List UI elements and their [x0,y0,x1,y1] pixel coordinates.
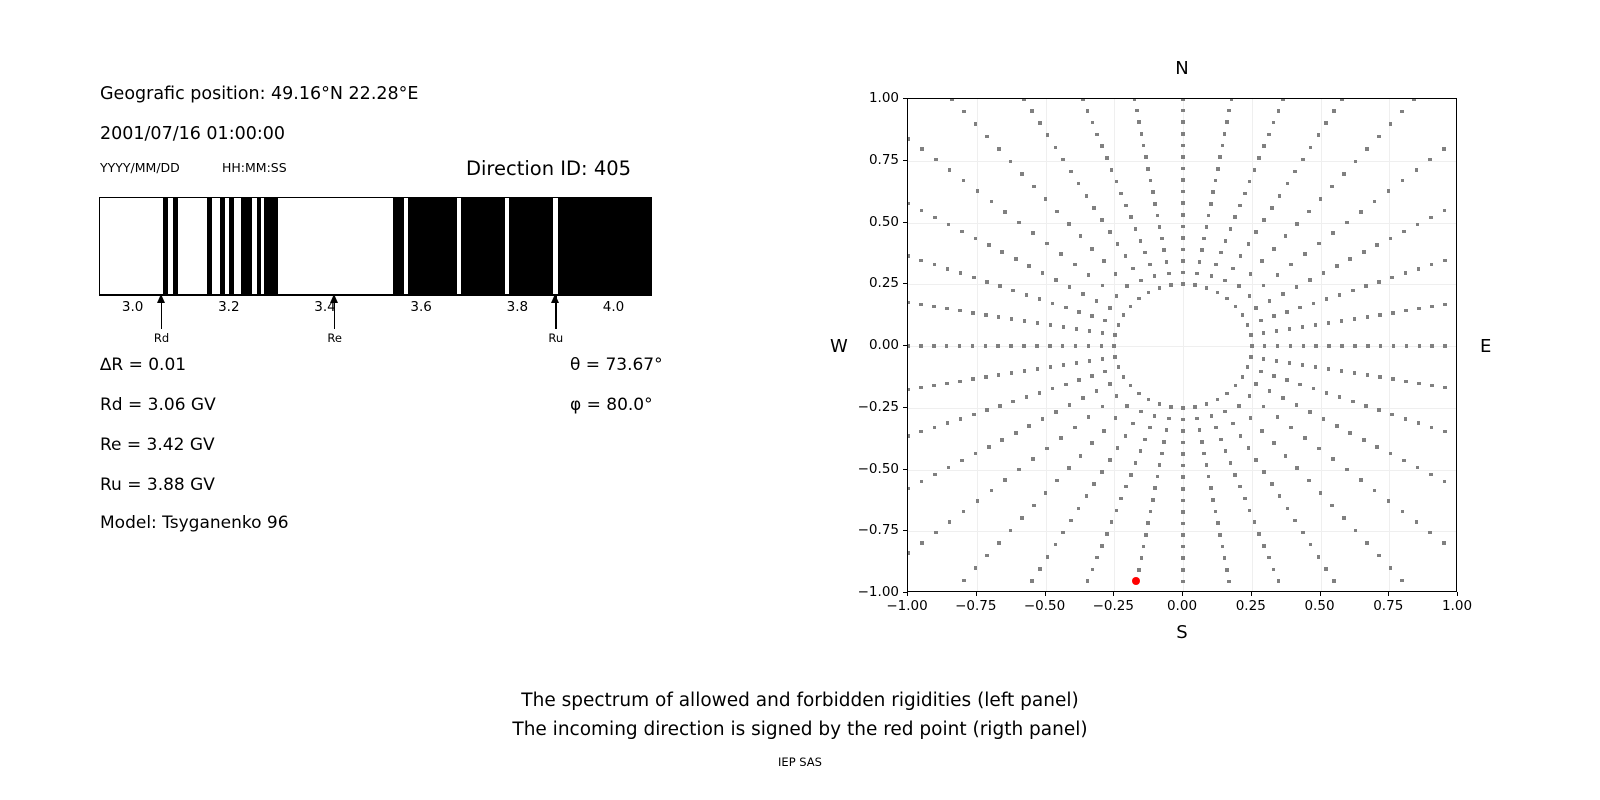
direction-point [1143,251,1147,255]
x-tick-label: 0.50 [1304,598,1334,614]
direction-point [1312,387,1316,391]
x-tick-mark [1182,592,1183,596]
direction-point [1345,221,1349,225]
direction-point [997,373,1001,377]
direction-point [1139,279,1143,283]
direction-point [1366,315,1370,319]
direction-point [1142,545,1146,549]
direction-point [1272,314,1276,318]
direction-point [1108,306,1112,310]
y-tick-mark [903,222,907,223]
direction-point [1153,202,1157,206]
forbidden-band [163,198,169,294]
direction-point [1307,479,1311,483]
x-tick-label: 0.00 [1167,598,1197,614]
direction-point [1364,284,1368,288]
param-theta: θ = 73.67° [570,355,663,375]
direction-point [1059,252,1063,256]
direction-point [1148,263,1152,267]
direction-point [1115,509,1119,513]
y-tick-mark [903,469,907,470]
direction-point [1090,374,1094,378]
direction-point [1262,284,1266,288]
direction-point [1249,333,1253,337]
datetime-label: 2001/07/16 01:00:00 [100,124,285,144]
direction-point [1137,120,1141,124]
direction-point [1233,215,1237,219]
direction-point [1068,285,1072,289]
direction-point [1389,122,1393,126]
direction-point [1443,430,1447,434]
param-ru: Ru = 3.88 GV [100,475,215,495]
figure-caption: The spectrum of allowed and forbidden ri… [0,686,1600,744]
direction-point [1134,227,1138,231]
compass-north-label: N [1175,58,1188,79]
direction-point [1260,429,1264,433]
y-tick-mark [903,98,907,99]
direction-point [1418,344,1422,348]
direction-point [948,520,952,524]
direction-point [932,384,936,388]
direction-point [1430,263,1434,267]
direction-point [1281,396,1285,400]
direction-point [972,413,976,417]
direction-point [998,404,1002,408]
direction-point [1181,109,1185,113]
direction-point [1101,405,1105,409]
direction-point [1041,271,1045,275]
direction-point [1225,392,1229,396]
direction-point [1286,182,1290,186]
x-tick-label: −0.25 [1093,598,1134,614]
direction-point [1248,180,1252,184]
direction-point [1158,225,1162,229]
direction-point [1416,466,1420,470]
direction-point [1456,434,1457,438]
direction-point [1147,291,1151,295]
direction-point [1284,454,1288,458]
direction-point [1377,135,1381,139]
direction-point [1239,254,1243,258]
direction-point [997,315,1001,319]
direction-point [1014,431,1018,435]
direction-point [1456,202,1457,206]
direction-point [1327,367,1331,371]
direction-point [1428,158,1432,162]
direction-point [1366,373,1370,377]
direction-point [1227,109,1231,113]
direction-point [1117,365,1121,369]
direction-point [947,223,951,227]
direction-point [1165,260,1169,264]
direction-point [1110,168,1114,172]
direction-point [1430,384,1434,388]
geographic-position-label: Geografic position: 49.16°N 22.28°E [100,84,418,104]
direction-point [1025,395,1029,399]
direction-point [920,541,924,545]
direction-point [1303,252,1307,256]
direction-point [1404,380,1408,384]
direction-point [1108,230,1112,234]
forbidden-band [257,198,261,294]
direction-point [1092,482,1096,486]
direction-point [1003,210,1007,214]
direction-point [1247,446,1251,450]
direction-point [1262,470,1266,474]
direction-point [1112,344,1116,348]
direction-point [1035,344,1039,348]
direction-point [1131,267,1135,271]
direction-point [1000,438,1004,442]
direction-point [1429,216,1433,220]
direction-point [1250,344,1254,348]
direction-point [1234,384,1238,388]
direction-point [1017,468,1021,472]
direction-point [933,263,937,267]
direction-point [1181,475,1185,479]
direction-point [974,237,978,241]
direction-point [1442,147,1446,151]
direction-point [1390,276,1394,280]
direction-point [1246,365,1250,369]
direction-point [1267,133,1271,137]
direction-point [1223,410,1227,414]
direction-point [1113,355,1117,359]
direction-point [1193,283,1197,287]
direction-point [1317,242,1321,246]
direction-point [1030,109,1034,113]
direction-point [1209,486,1213,490]
direction-point [1223,556,1227,560]
forbidden-band [393,198,404,294]
direction-point [1149,510,1153,514]
direction-point [1009,344,1013,348]
direction-point [1115,394,1119,398]
direction-point [1022,344,1026,348]
direction-point [1160,452,1164,456]
marker-label: Rd [154,331,169,345]
direction-point [1428,531,1432,535]
direction-point [1308,410,1312,414]
direction-point [1125,284,1129,288]
direction-point [1375,445,1379,449]
gridline-vertical [1046,99,1047,591]
direction-point [1129,384,1133,388]
direction-point [1064,306,1068,310]
direction-point [987,445,991,449]
direction-point [1116,446,1120,450]
direction-point [1443,259,1447,263]
direction-point [1077,182,1081,186]
direction-point [1017,221,1021,225]
direction-point [1210,274,1214,278]
direction-point [1248,394,1252,398]
direction-point [1181,271,1185,275]
forbidden-band [461,198,505,294]
direction-point [1267,556,1271,560]
direction-point [1181,406,1185,410]
direction-map-panel: N S W E −1.00−0.75−0.50−0.250.000.250.50… [800,0,1600,800]
direction-point [1124,254,1128,258]
direction-point [1046,133,1050,137]
rigidity-tick-label: 3.6 [410,299,431,315]
direction-point [1308,278,1312,282]
direction-point [1073,426,1077,430]
direction-point [1139,239,1143,243]
direction-point [1091,568,1095,572]
direction-point [1268,299,1272,303]
rigidity-spectrum-panel: Geografic position: 49.16°N 22.28°E 2001… [0,0,800,800]
direction-point [1379,344,1383,348]
direction-point [1401,179,1405,183]
direction-point [1312,302,1316,306]
direction-point [1027,264,1031,268]
direction-point [920,480,924,484]
direction-point [1153,486,1157,490]
direction-point [1169,283,1173,287]
direction-point [1202,452,1206,456]
direction-point [1079,454,1083,458]
y-tick-label: −0.75 [858,522,899,538]
direction-point [1061,158,1065,162]
direction-point [1456,551,1457,555]
direction-point [1218,533,1222,537]
direction-point [1069,170,1073,174]
direction-point [933,216,937,220]
direction-point [1134,461,1138,465]
selected-direction-point[interactable] [1132,577,1140,585]
gridline-horizontal [908,346,1456,347]
direction-point [1375,243,1379,247]
direction-point [1362,250,1366,254]
direction-point [1249,272,1253,276]
direction-point [1340,591,1344,592]
direction-id-label: Direction ID: 405 [466,157,631,180]
direction-point [1054,543,1058,547]
direction-point [1181,225,1185,229]
direction-point [932,305,936,309]
direction-point [976,189,980,193]
direction-point [1100,218,1104,222]
direction-point [1402,230,1406,234]
direction-point [1327,344,1331,348]
direction-point [1254,230,1258,234]
direction-point [1181,418,1185,422]
direction-point [1402,459,1406,463]
direction-point [1243,497,1247,501]
direction-point [932,344,936,348]
direction-point [1231,267,1235,271]
forbidden-band [220,198,225,294]
direction-point [1332,109,1336,113]
direction-point [1064,383,1068,387]
direction-point [1068,403,1072,407]
direction-point [1253,520,1257,524]
direction-point [1338,395,1342,399]
direction-point [1156,214,1160,218]
direction-point [1169,405,1173,409]
direction-point [960,459,964,463]
direction-point [1129,305,1133,309]
direction-point [919,259,923,263]
direction-point [1277,579,1281,583]
gridline-horizontal [908,531,1456,532]
direction-point [1288,327,1292,331]
direction-point [1317,555,1321,559]
direction-point [1151,498,1155,502]
direction-point [1295,403,1299,407]
direction-point [971,344,975,348]
direction-point [1045,447,1049,451]
direction-point [1262,331,1266,335]
direction-point [1181,201,1185,205]
direction-point [1062,325,1066,329]
param-delta-r: ∆R = 0.01 [100,355,186,375]
direction-point [920,147,924,151]
direction-point [1088,329,1092,333]
direction-point [1353,317,1357,321]
direction-point [1181,155,1185,159]
direction-point [1100,544,1104,548]
direction-point [1061,344,1065,348]
direction-point [1103,370,1107,374]
direction-point [1139,449,1143,453]
direction-point [1295,222,1299,226]
direction-point [1412,591,1416,592]
direction-point [919,344,923,348]
direction-point [1238,204,1242,208]
direction-point [1443,209,1447,213]
x-tick-mark [1320,592,1321,596]
direction-point [1115,180,1119,184]
direction-point [1153,414,1157,418]
direction-point [1079,234,1083,238]
direction-point [1074,344,1078,348]
direction-point [1158,463,1162,467]
direction-point [1023,369,1027,373]
direction-point [1214,179,1218,183]
direction-point [1137,392,1141,396]
direction-point [1181,248,1185,252]
direction-point [1301,325,1305,329]
direction-point [1181,98,1185,101]
direction-point [1149,179,1153,183]
direction-point [1167,272,1171,276]
direction-point [1270,206,1274,210]
direction-point [1077,378,1081,382]
marker-label: Re [327,331,342,345]
direction-point [1373,200,1377,204]
direction-point [1277,109,1281,113]
direction-point [1257,156,1261,160]
direction-point [1392,344,1396,348]
direction-point [1181,190,1185,194]
direction-point [1456,388,1457,392]
direction-point [1108,458,1112,462]
direction-point [1293,170,1297,174]
direction-point [1248,509,1252,513]
rigidity-tick-label: 3.0 [122,299,143,315]
x-tick-label: 0.75 [1373,598,1403,614]
direction-point [934,531,938,535]
direction-point [1162,440,1166,444]
direction-point [1116,242,1120,246]
direction-point [1286,507,1290,511]
direction-point [1075,361,1079,365]
direction-point [1100,470,1104,474]
direction-point [962,179,966,183]
direction-point [1022,98,1026,101]
direction-point [907,434,910,438]
y-tick-mark [903,407,907,408]
direction-point [1151,190,1155,194]
direction-point [1239,434,1243,438]
direction-point [1353,371,1357,375]
direction-point [1429,473,1433,477]
direction-point [984,313,988,317]
direction-point [1181,120,1185,124]
direction-point [1442,541,1446,545]
direction-point [1247,242,1251,246]
direction-point [1101,284,1105,288]
direction-point [1198,428,1202,432]
direction-point [1348,431,1352,435]
gridline-horizontal [908,161,1456,162]
direction-point [1146,521,1150,525]
direction-point [1325,297,1329,301]
direction-point [1221,144,1225,148]
direction-point [1335,264,1339,268]
direction-point [1230,591,1234,592]
direction-point [1011,400,1015,404]
direction-point [1181,580,1185,584]
forbidden-band [558,198,652,294]
direction-point [1284,234,1288,238]
direction-point [1389,237,1393,241]
direction-point [1167,417,1171,421]
direction-point [919,386,923,390]
direction-point [1067,222,1071,226]
direction-point [1158,402,1162,406]
direction-point [1124,204,1128,208]
direction-point [1113,333,1117,337]
direction-point [1319,197,1323,201]
direction-point [1181,282,1185,286]
direction-point [1088,359,1092,363]
direction-point [1129,473,1133,477]
compass-west-label: W [830,336,848,357]
direction-point [1038,391,1042,395]
direction-point [1330,185,1334,189]
direction-point [1216,167,1220,171]
direction-point [1048,344,1052,348]
direction-point [945,382,949,386]
direction-point [1443,480,1447,484]
direction-point [1387,499,1391,503]
y-tick-label: 0.75 [869,152,899,168]
direction-point [1095,133,1099,137]
direction-point [1443,386,1447,390]
direction-point [1195,417,1199,421]
direction-point [1412,98,1416,101]
direction-point [1144,533,1148,537]
direction-point [1081,396,1085,400]
direction-point [1234,305,1238,309]
direction-point [1293,519,1297,523]
direction-point [1020,516,1024,520]
direction-point [1345,468,1349,472]
direction-point [1077,310,1081,314]
